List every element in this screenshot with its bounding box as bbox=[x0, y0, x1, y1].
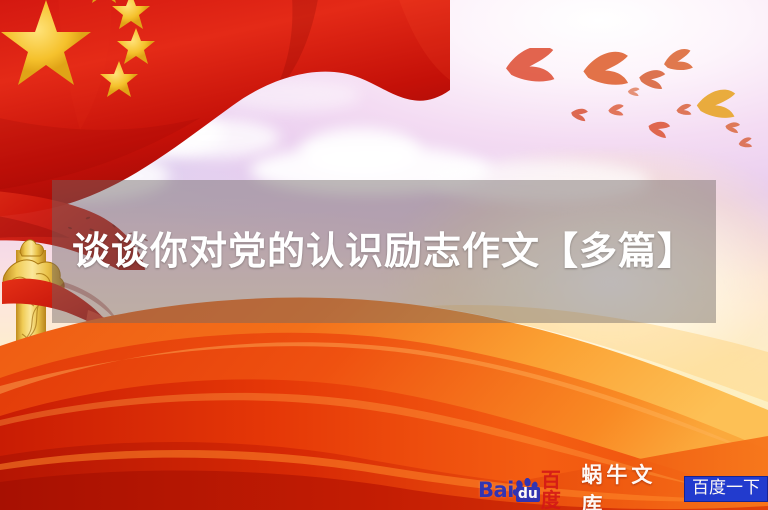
title-overlay-box: 谈谈你对党的认识励志作文【多篇】 bbox=[52, 180, 716, 323]
cover-image-canvas: 谈谈你对党的认识励志作文【多篇】 Bai du 百度 蜗牛文库 百度一下 bbox=[0, 0, 768, 510]
baidu-logo-chinese: 百度 bbox=[541, 470, 572, 510]
baidu-search-button[interactable]: 百度一下 bbox=[684, 476, 768, 503]
watermark-bar: Bai du 百度 蜗牛文库 百度一下 bbox=[478, 474, 768, 504]
site-name-watermark: 蜗牛文库 bbox=[581, 459, 674, 510]
flying-birds-group bbox=[490, 48, 768, 168]
baidu-paw-icon: du bbox=[513, 478, 540, 502]
baidu-paw-label: du bbox=[516, 487, 540, 502]
baidu-logo[interactable]: Bai du 百度 bbox=[478, 477, 571, 503]
page-title: 谈谈你对党的认识励志作文【多篇】 bbox=[69, 225, 699, 279]
baidu-logo-latin: Bai bbox=[478, 480, 514, 501]
